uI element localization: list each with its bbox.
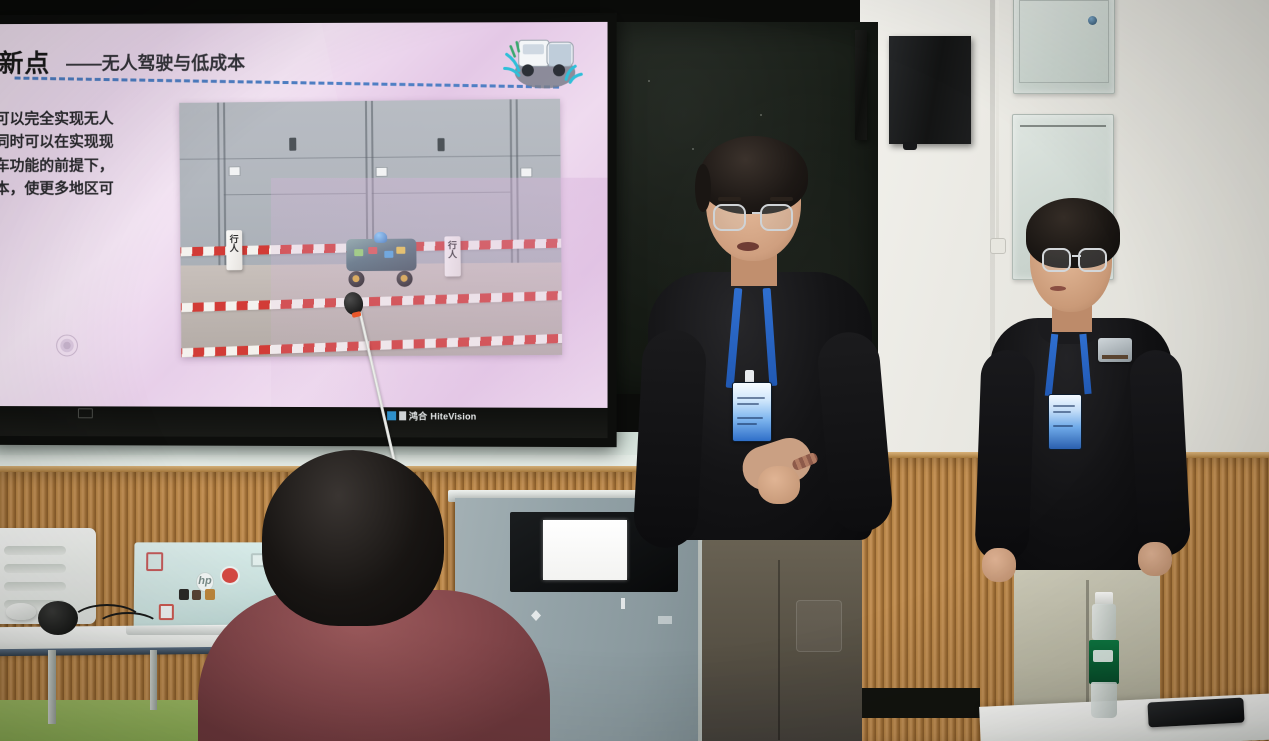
electrical-cabinet-upper[interactable] [1013,0,1115,94]
podium-marker-icon [531,610,541,621]
bottle-label [1089,640,1119,684]
display-bezel [0,13,617,447]
character-sticker [159,604,174,620]
cable [96,612,160,642]
bottle-bottom [1091,682,1117,718]
team-logo-icon [1098,338,1132,362]
presenter-second-mouth [1050,286,1066,291]
presenter-main-brow [770,197,793,201]
wall-socket-icon [990,238,1006,254]
presenter-main-badge [732,382,772,442]
presenter-main-cargo-pocket [796,600,842,652]
cabinet-indicator-icon [1088,16,1097,25]
smartphone[interactable] [1147,698,1244,728]
audience-member-head [262,450,444,626]
presenter-second-hand-right [1138,542,1172,576]
podium-marker-icon [621,598,625,609]
wall-speaker-left-icon [855,30,867,140]
podium-screen[interactable] [543,520,627,580]
eyeglasses-icon [1042,248,1071,272]
presenter-second-arm-left [974,349,1035,563]
wall-cable [996,0,999,246]
computer-mouse[interactable] [6,603,36,620]
classroom-presentation-scene: 创新点 ——无人驾驶与低成本 产品可以完全实现无人 驶，同时可以在实现 [0,0,1269,741]
water-bottle[interactable] [1088,592,1120,718]
character-sticker [146,552,163,571]
presenter-main-pants-seam [778,560,780,740]
eyeglasses-bridge [752,212,762,214]
podium-marker-icon [658,616,672,624]
cup-sticker [192,590,201,600]
presenter-second-arm-right [1129,349,1192,557]
wall-speaker-right-icon [889,36,971,144]
eyeglasses-bridge [1072,255,1081,257]
bottle-top [1092,604,1116,640]
eyeglasses-icon [713,204,746,231]
presenter-main-brow [718,197,741,201]
presenter-main-hand [758,466,800,504]
eyeglasses-icon [1078,248,1107,272]
cup-sticker [205,589,215,600]
eyeglasses-icon [760,204,793,231]
presenter-second-hand-left [982,548,1016,582]
presenter-main-arm-left [632,328,707,549]
presenter-main-hair [700,136,808,214]
apple-sticker [222,568,238,583]
presentation-display[interactable]: 创新点 ——无人驾驶与低成本 产品可以完全实现无人 驶，同时可以在实现 [0,13,617,447]
presenter-second-badge [1048,394,1082,450]
cup-sticker [179,589,189,600]
presenter-main-mouth [737,242,759,251]
